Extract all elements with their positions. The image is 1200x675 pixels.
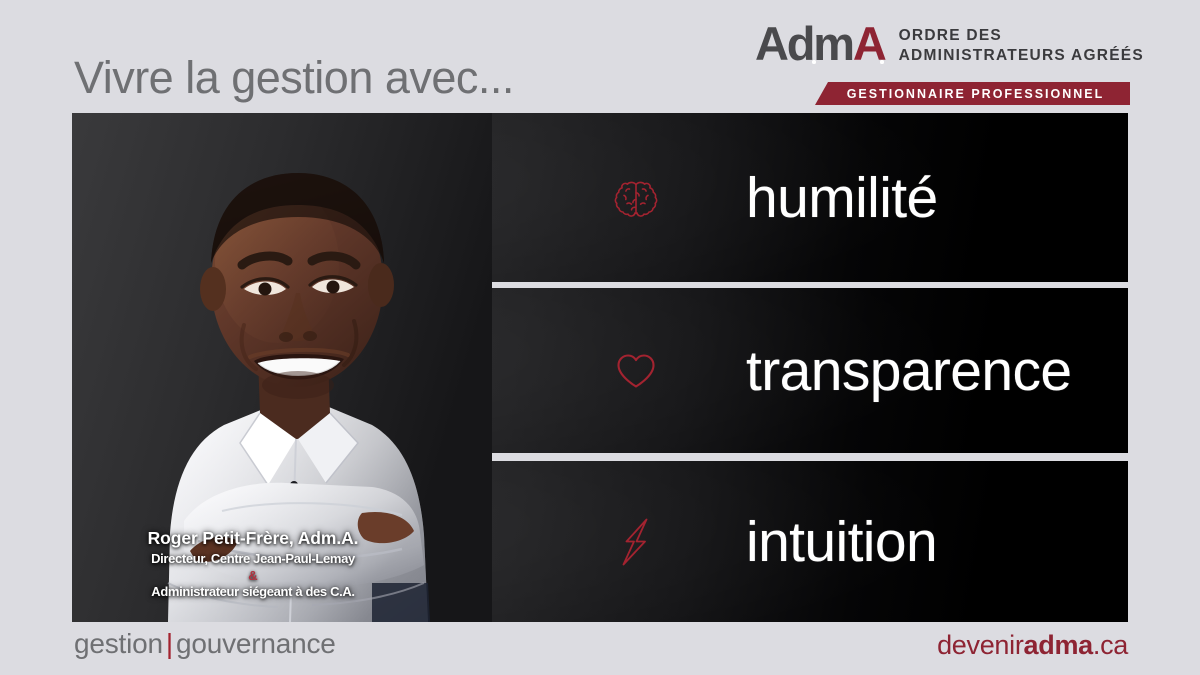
speaker-role-secondary: Administrateur siégeant à des C.A. — [88, 584, 418, 600]
logo-subtitle-line2: ADMINISTRATEURS AGRÉÉS — [899, 48, 1144, 65]
page-title: Vivre la gestion avec... — [74, 52, 514, 104]
speaker-role: Directeur, Centre Jean-Paul-Lemay — [88, 551, 418, 567]
footer-website-url[interactable]: deveniradma.ca — [937, 630, 1128, 661]
heart-icon — [600, 352, 672, 390]
footer-tagline-gestion: gestion — [74, 628, 163, 659]
adma-logo-lockup: AdmA ORDRE DES ADMINISTRATEURS AGRÉÉS GE… — [755, 18, 1130, 102]
wordmark-adm: Adm — [755, 17, 853, 70]
speaker-ampersand: & — [88, 568, 418, 584]
value-band-humilite: humilité — [72, 113, 1128, 282]
footer-separator: | — [163, 628, 176, 659]
logo-subtitle: ORDRE DES ADMINISTRATEURS AGRÉÉS — [899, 28, 1144, 64]
speaker-caption: Roger Petit-Frère, Adm.A. Directeur, Cen… — [88, 528, 418, 600]
logo-row: AdmA ORDRE DES ADMINISTRATEURS AGRÉÉS — [755, 18, 1130, 74]
logo-dot-right-icon — [880, 60, 884, 64]
band-label-transparence: transparence — [746, 338, 1072, 404]
speaker-name: Roger Petit-Frère, Adm.A. — [88, 528, 418, 548]
url-adma: adma — [1024, 630, 1093, 660]
url-devenir: devenir — [937, 630, 1023, 660]
value-band-transparence: transparence — [72, 288, 1128, 453]
url-tld: .ca — [1093, 630, 1128, 660]
footer-tagline: gestion|gouvernance — [74, 628, 336, 660]
band-content: transparence — [72, 288, 1128, 453]
band-content: humilité — [72, 113, 1128, 282]
footer-tagline-gouvernance: gouvernance — [176, 628, 336, 659]
band-label-intuition: intuition — [746, 509, 937, 575]
logo-dot-left-icon — [812, 60, 816, 64]
logo-banner-badge: GESTIONNAIRE PROFESSIONNEL — [815, 82, 1130, 105]
band-label-humilite: humilité — [746, 165, 938, 231]
lightning-bolt-icon — [600, 517, 672, 567]
adma-wordmark: AdmA — [755, 20, 885, 67]
logo-subtitle-line1: ORDRE DES — [899, 28, 1144, 45]
brain-icon — [600, 178, 672, 218]
